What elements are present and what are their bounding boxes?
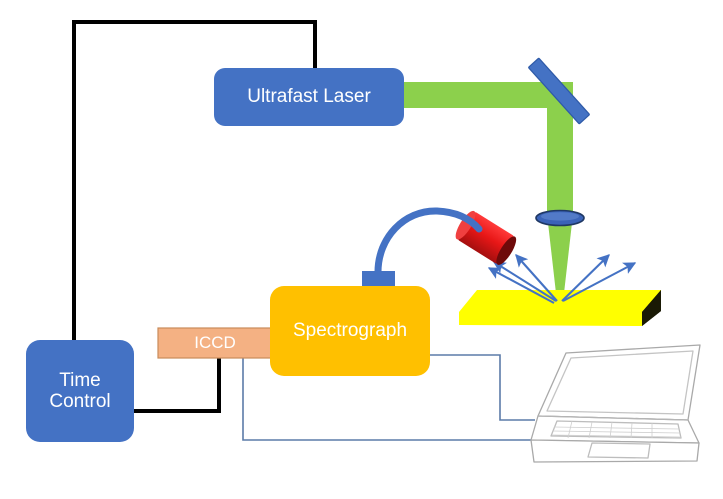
sample-target bbox=[459, 290, 661, 326]
fiber-connector bbox=[362, 271, 395, 288]
focusing-lens bbox=[536, 211, 584, 226]
time-control-box[interactable] bbox=[26, 340, 134, 442]
laptop[interactable] bbox=[531, 345, 700, 462]
ultrafast-laser-box[interactable] bbox=[214, 68, 404, 126]
schematic-svg bbox=[0, 0, 723, 499]
iccd-box[interactable] bbox=[158, 328, 272, 358]
gate-cable bbox=[134, 358, 219, 411]
diagram-canvas: Ultrafast Laser Time Control Spectrograp… bbox=[0, 0, 723, 499]
spectrograph-box[interactable] bbox=[270, 286, 430, 376]
laser-beam bbox=[402, 82, 573, 302]
